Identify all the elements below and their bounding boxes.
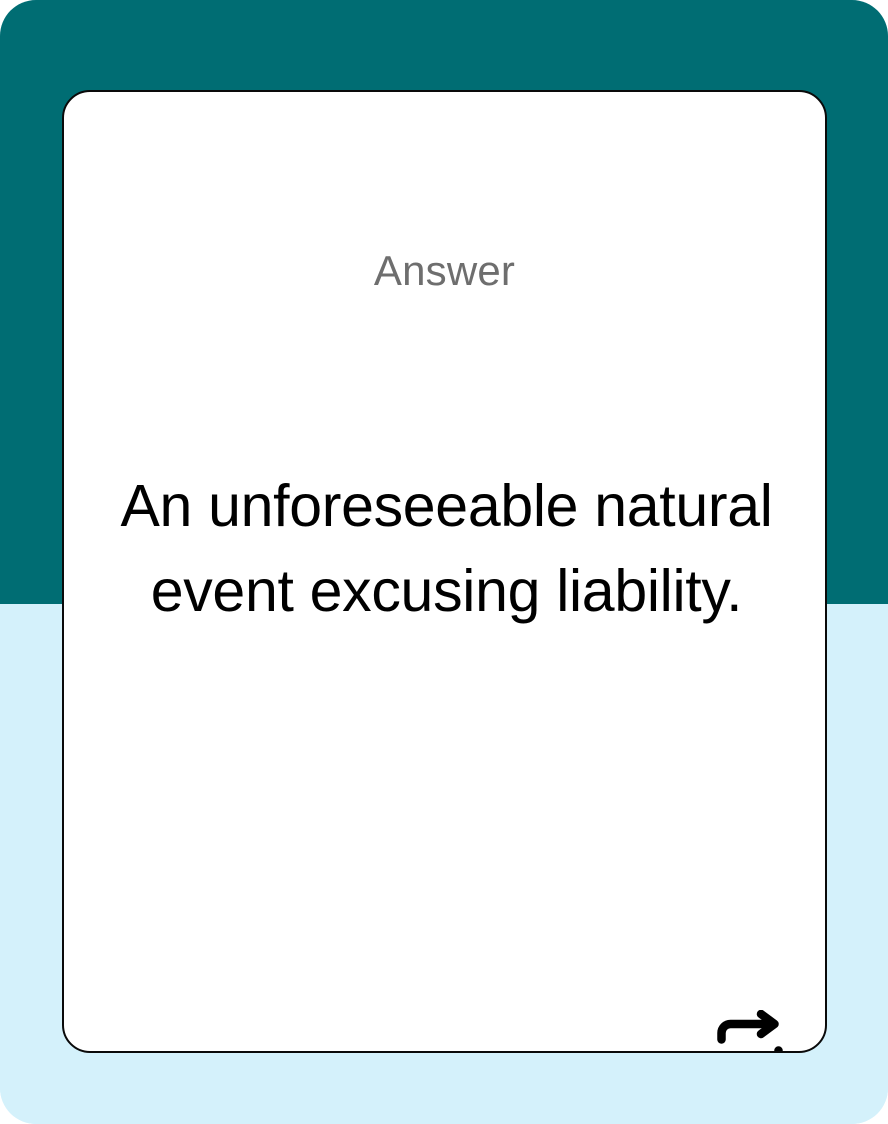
- card-answer-text: An unforeseeable natural event excusing …: [114, 464, 779, 634]
- flip-card-button[interactable]: [713, 1008, 787, 1053]
- repeat-flip-icon: [714, 1010, 786, 1053]
- card-side-label: Answer: [64, 250, 825, 292]
- app-canvas: Answer An unforeseeable natural event ex…: [0, 0, 888, 1124]
- flashcard[interactable]: Answer An unforeseeable natural event ex…: [62, 90, 827, 1053]
